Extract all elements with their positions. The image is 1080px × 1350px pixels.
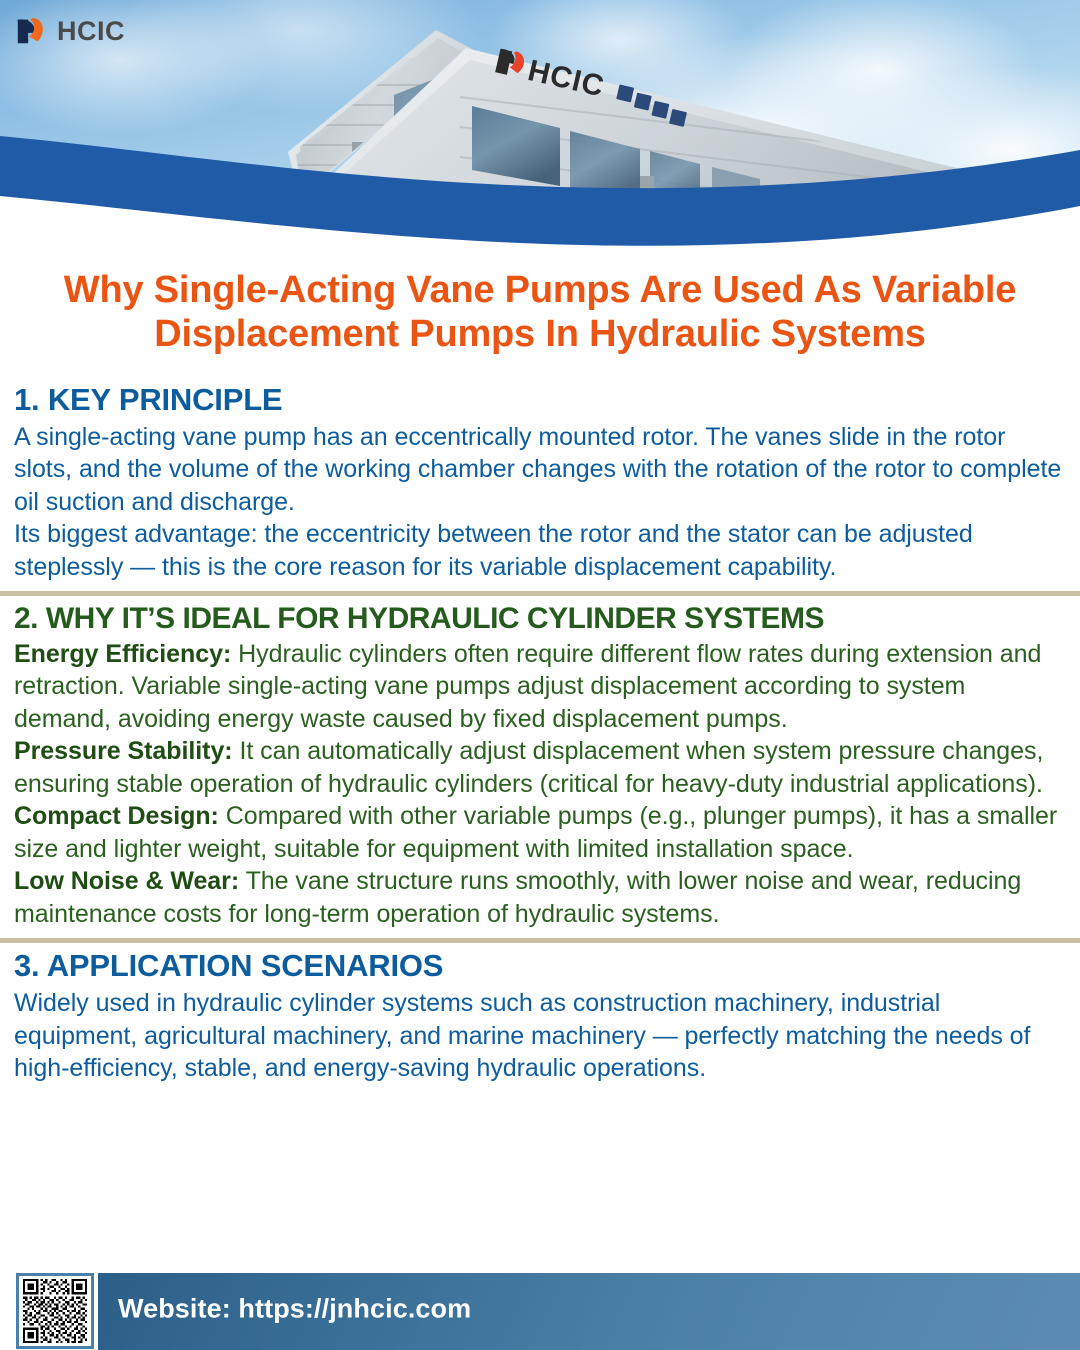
section-divider-2 <box>0 938 1080 943</box>
article-body: 1. KEY PRINCIPLE A single-acting vane pu… <box>0 383 1080 1085</box>
brand-logo: HCIC <box>14 14 125 48</box>
section-2-heading: 2. WHY IT’S IDEAL FOR HYDRAULIC CYLINDER… <box>14 602 1066 636</box>
section-why-ideal: 2. WHY IT’S IDEAL FOR HYDRAULIC CYLINDER… <box>0 602 1080 930</box>
section-2-item-3-label: Compact Design: <box>14 802 219 830</box>
section-2-item-4-label: Low Noise & Wear: <box>14 867 239 895</box>
section-2-item-1-label: Energy Efficiency: <box>14 640 231 668</box>
section-2-item-2: Pressure Stability: It can automatically… <box>14 735 1066 800</box>
section-1-paragraph-1: A single-acting vane pump has an eccentr… <box>14 421 1066 519</box>
qr-code-image <box>22 1279 88 1343</box>
page-title: Why Single-Acting Vane Pumps Are Used As… <box>0 268 1080 356</box>
section-1-heading: 1. KEY PRINCIPLE <box>14 383 1066 418</box>
footer-bar: Website: https://jnhcic.com <box>0 1267 1080 1350</box>
brand-logo-text: HCIC <box>57 18 125 45</box>
section-divider-1 <box>0 591 1080 596</box>
section-2-item-2-label: Pressure Stability: <box>14 737 233 765</box>
section-key-principle: 1. KEY PRINCIPLE A single-acting vane pu… <box>0 383 1080 583</box>
section-2-item-1: Energy Efficiency: Hydraulic cylinders o… <box>14 638 1066 736</box>
header-banner: HCIC HCIC <box>0 0 1080 258</box>
qr-code[interactable] <box>16 1273 94 1349</box>
section-3-heading: 3. APPLICATION SCENARIOS <box>14 949 1066 984</box>
hcic-logo-mark <box>14 14 48 48</box>
section-application-scenarios: 3. APPLICATION SCENARIOS Widely used in … <box>0 949 1080 1084</box>
website-label[interactable]: Website: https://jnhcic.com <box>118 1293 471 1324</box>
section-3-paragraph-1: Widely used in hydraulic cylinder system… <box>14 987 1066 1085</box>
factory-building-photo: HCIC <box>0 0 1080 258</box>
section-1-paragraph-2: Its biggest advantage: the eccentricity … <box>14 518 1066 583</box>
section-2-item-3: Compact Design: Compared with other vari… <box>14 800 1066 865</box>
section-2-item-4: Low Noise & Wear: The vane structure run… <box>14 865 1066 930</box>
